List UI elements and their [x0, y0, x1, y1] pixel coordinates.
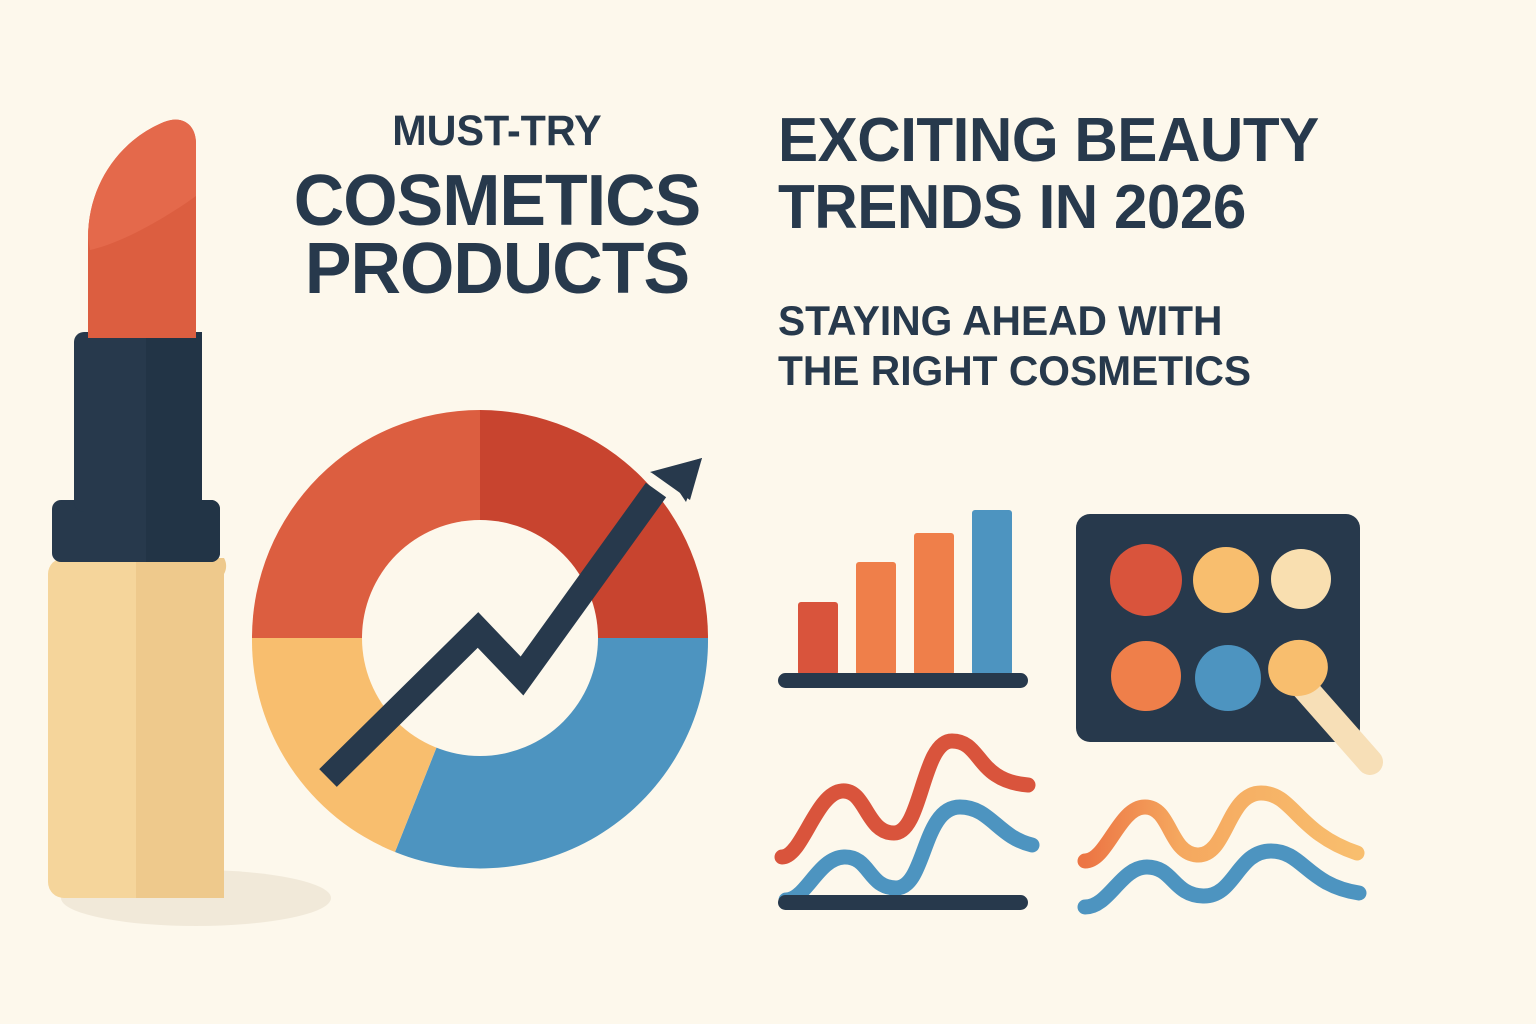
wave-line-red — [782, 741, 1028, 857]
wave-line-blue — [1085, 851, 1359, 907]
left-headline-line1: COSMETICS — [269, 164, 725, 238]
right-headline-line2: TRENDS IN 2026 — [778, 175, 1341, 242]
right-subheadline-line2: THE RIGHT COSMETICS — [778, 346, 1360, 396]
right-headline-line1: EXCITING BEAUTY — [778, 108, 1341, 175]
donut-chart — [250, 380, 730, 880]
wave-chart-left — [770, 725, 1040, 920]
bar-chart — [770, 490, 1040, 690]
wave-chart-right — [1085, 765, 1395, 925]
right-subheadline-line1: STAYING AHEAD WITH — [778, 296, 1360, 346]
bar-1 — [798, 602, 838, 675]
palette-pan-amber — [1193, 547, 1259, 613]
bar-2 — [856, 562, 896, 675]
palette-pan-red — [1110, 544, 1182, 616]
eyeshadow-palette — [1070, 500, 1400, 790]
wave-chart-baseline — [778, 895, 1028, 910]
palette-pan-blue — [1195, 645, 1261, 711]
palette-pan-orange — [1111, 641, 1181, 711]
right-headline: EXCITING BEAUTY TRENDS IN 2026 — [778, 108, 1358, 242]
lipstick-collar-shade-round — [186, 332, 202, 512]
bar-3 — [914, 533, 954, 675]
infographic-canvas: MUST-TRY COSMETICS PRODUCTS EXCITING BEA… — [0, 0, 1536, 1024]
wave-line-amber — [1085, 793, 1357, 861]
donut-slice-dark-red — [480, 410, 708, 638]
left-headline-kicker: MUST-TRY — [271, 110, 722, 154]
bar-chart-baseline — [778, 673, 1028, 688]
bar-4 — [972, 510, 1012, 675]
donut-slice-orange-red — [252, 410, 480, 638]
right-subheadline: STAYING AHEAD WITH THE RIGHT COSMETICS — [778, 296, 1378, 395]
left-headline-line2: PRODUCTS — [269, 232, 725, 306]
lipstick-collar-base-shade — [146, 500, 220, 562]
lipstick-tube-shade-round — [208, 558, 226, 898]
palette-pan-cream — [1271, 549, 1331, 609]
left-headline: MUST-TRY COSMETICS PRODUCTS — [262, 110, 732, 306]
